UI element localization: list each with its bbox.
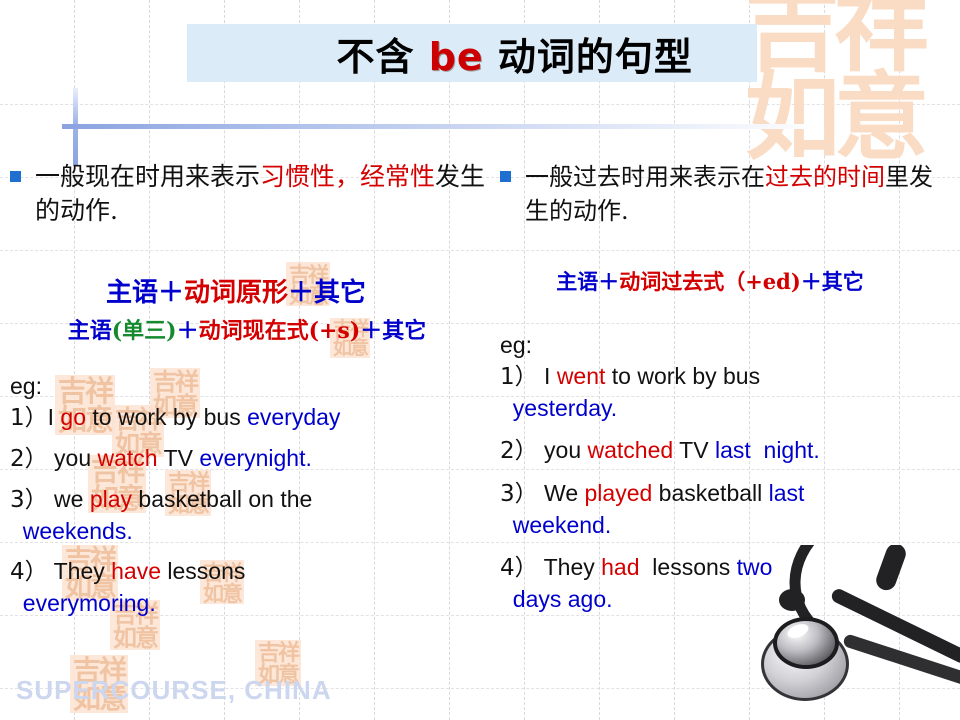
example-index: 3） — [10, 487, 48, 513]
left-example-item: 2） you watch TV everynight. — [10, 443, 490, 475]
right-eg-label: eg: — [500, 332, 950, 359]
bullet-square-icon — [10, 171, 21, 182]
formula1-verb: 动词原形 — [184, 278, 288, 308]
left-formula-base-form: 主语＋动词原形＋其它 — [10, 272, 490, 309]
example-index: 1） — [500, 364, 538, 390]
example-segment-red: go — [60, 404, 86, 430]
right-example-item: 2） you watched TV last night. — [500, 435, 950, 467]
bullet-square-icon — [500, 171, 511, 182]
example-segment-blue: everyday — [247, 404, 340, 430]
formula1-subject: 主语 — [106, 278, 158, 308]
example-index: 4） — [10, 559, 48, 585]
example-segment-blue: last night. — [715, 437, 820, 463]
left-example-list: 1）I go to work by bus everyday2） you wat… — [10, 402, 490, 619]
example-segment-blue: two — [737, 554, 773, 580]
example-segment-black: I — [48, 404, 61, 430]
left-bullet-seg1: 一般现在时用来表示 — [35, 162, 260, 191]
example-segment-blue: yesterday. — [500, 395, 617, 421]
right-bullet-seg2: 过去 — [765, 163, 813, 191]
formula2-plus2: ＋ — [360, 318, 382, 344]
example-segment-black: They — [538, 554, 602, 580]
formula1-plus1: ＋ — [158, 278, 184, 308]
left-bullet-row: 一般现在时用来表示习惯性，经常性发生的动作. — [10, 160, 490, 228]
example-segment-blue: everynight. — [199, 445, 312, 471]
example-segment-black: TV — [673, 437, 715, 463]
left-column: 一般现在时用来表示习惯性，经常性发生的动作. 主语＋动词原形＋其它 主语(单三)… — [10, 160, 490, 628]
example-segment-black: I — [538, 363, 557, 389]
left-example-item: 3） we play basketball on the weekends. — [10, 484, 490, 547]
formula2-plus1: ＋ — [177, 318, 199, 344]
formula-r-verb: 动词过去式 — [619, 269, 724, 294]
example-segment-blue: last — [769, 480, 805, 506]
left-bullet-text: 一般现在时用来表示习惯性，经常性发生的动作. — [35, 160, 490, 228]
right-example-item: 3） We played basketball last weekend. — [500, 478, 950, 541]
example-segment-red: watched — [588, 437, 674, 463]
formula-r-ed-suffix: （+ed) — [724, 269, 801, 294]
formula-r-subject: 主语 — [556, 269, 598, 294]
left-eg-label: eg: — [10, 373, 490, 400]
right-bullet-text: 一般过去时用来表示在过去的时间里发生的动作. — [525, 160, 950, 228]
example-segment-red: have — [111, 558, 161, 584]
left-bullet-seg3: 经常性 — [360, 162, 435, 191]
formula2-third-person-note: (单三) — [112, 318, 177, 344]
example-segment-black: They — [48, 558, 112, 584]
title-banner: 不含 be 动词的句型 — [187, 24, 757, 82]
example-segment-blue: everymoring. — [10, 590, 156, 616]
formula1-plus2: ＋ — [288, 278, 314, 308]
right-column: 一般过去时用来表示在过去的时间里发生的动作. 主语＋动词过去式（+ed)＋其它 … — [500, 160, 950, 626]
right-bullet-row: 一般过去时用来表示在过去的时间里发生的动作. — [500, 160, 950, 228]
example-segment-black: you — [48, 445, 98, 471]
left-bullet-seg2: 习惯性， — [260, 162, 360, 191]
example-index: 4） — [500, 555, 538, 581]
formula2-verb: 动词现在式 — [199, 318, 309, 344]
title-prefix: 不含 — [336, 35, 428, 79]
formula-r-plus2: ＋ — [801, 269, 822, 294]
right-bullet-seg3: 的时间 — [813, 163, 885, 191]
title-keyword-be: be — [429, 35, 484, 79]
formula2-s-suffix: (+s) — [309, 318, 361, 344]
example-segment-black: you — [538, 437, 588, 463]
example-index: 2） — [500, 438, 538, 464]
right-example-item: 1） I went to work by bus yesterday. — [500, 361, 950, 424]
title-suffix: 动词的句型 — [484, 35, 693, 79]
formula-r-plus1: ＋ — [598, 269, 619, 294]
slide-content: 不含 be 动词的句型 一般现在时用来表示习惯性，经常性发生的动作. 主语＋动词… — [0, 0, 960, 720]
formula2-subject: 主语 — [68, 318, 112, 344]
formula2-other: 其它 — [382, 318, 426, 344]
example-segment-red: had — [601, 554, 639, 580]
example-segment-blue: weekends. — [10, 518, 133, 544]
example-segment-red: played — [585, 480, 653, 506]
right-formula-past-tense: 主语＋动词过去式（+ed)＋其它 — [500, 266, 950, 296]
example-segment-blue: days ago. — [500, 586, 613, 612]
example-segment-black: We — [538, 480, 585, 506]
formula1-other: 其它 — [314, 278, 366, 308]
right-bullet-seg1: 一般过去时用来表示在 — [525, 163, 765, 191]
left-example-item: 1）I go to work by bus everyday — [10, 402, 490, 434]
right-example-list: 1） I went to work by bus yesterday.2） yo… — [500, 361, 950, 615]
example-segment-black: lessons — [161, 558, 245, 584]
example-segment-red: play — [90, 486, 132, 512]
example-segment-blue: weekend. — [500, 512, 611, 538]
example-segment-black: basketball on the — [132, 486, 312, 512]
example-segment-red: went — [557, 363, 606, 389]
example-segment-red: watch — [98, 445, 158, 471]
example-segment-black: we — [48, 486, 90, 512]
left-example-item: 4） They have lessons everymoring. — [10, 556, 490, 619]
page-title: 不含 be 动词的句型 — [251, 0, 693, 125]
example-index: 1） — [10, 405, 48, 431]
example-segment-black: lessons — [640, 554, 737, 580]
example-segment-black: TV — [158, 445, 200, 471]
example-segment-black: basketball — [652, 480, 768, 506]
formula-r-other: 其它 — [822, 269, 864, 294]
right-example-item: 4） They had lessons two days ago. — [500, 552, 950, 615]
example-index: 3） — [500, 481, 538, 507]
example-index: 2） — [10, 446, 48, 472]
example-segment-black: to work by bus — [86, 404, 247, 430]
left-formula-third-person: 主语(单三)＋动词现在式(+s)＋其它 — [10, 313, 490, 345]
example-segment-black: to work by bus — [605, 363, 760, 389]
